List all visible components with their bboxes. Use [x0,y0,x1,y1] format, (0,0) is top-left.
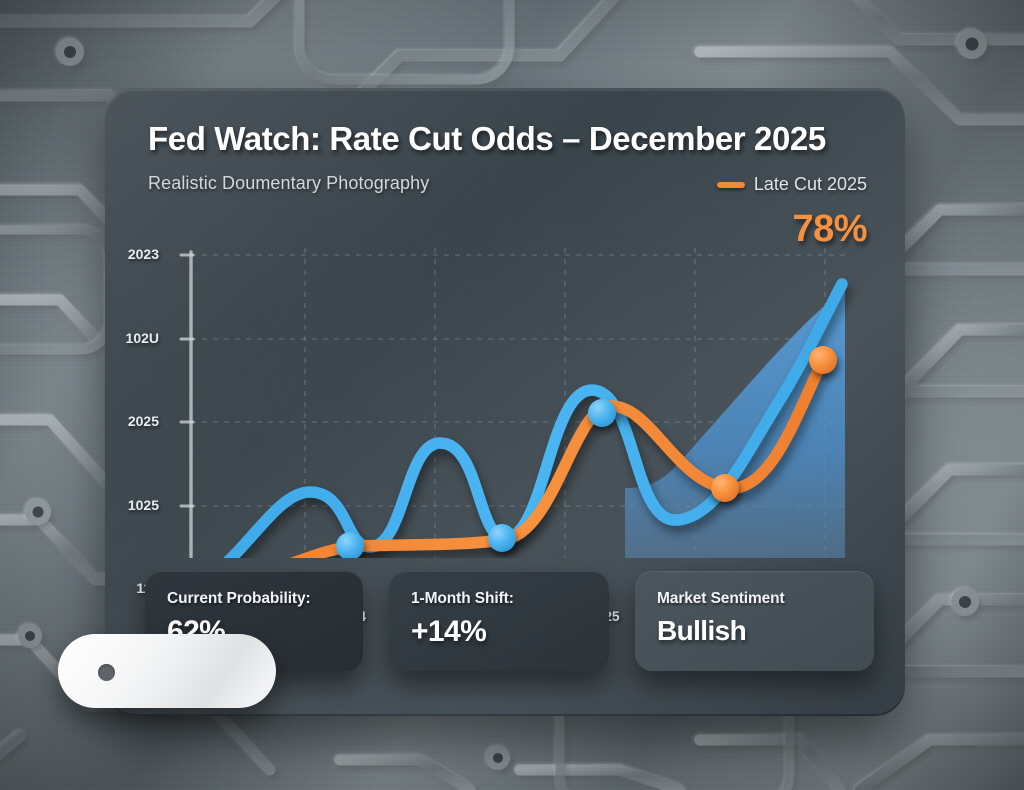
stat-card-label: 1-Month Shift: [411,590,587,608]
stat-card-market-sentiment[interactable]: Market Sentiment Bullish [635,571,874,671]
y-axis-tick-1: 102U [105,330,159,346]
screenshot-root: Fed Watch: Rate Cut Odds – December 2025… [0,0,1024,790]
stat-card-label: Current Probability: [167,590,341,608]
y-axis-tick-3: 1025 [105,497,159,513]
marker-blue-2[interactable] [488,524,516,552]
marker-orange-2[interactable] [711,474,739,502]
chart-panel: Fed Watch: Rate Cut Odds – December 2025… [105,88,905,716]
y-axis-tick-0: 2023 [105,246,159,262]
stat-card-value: +14% [411,615,587,649]
marker-orange-3[interactable] [809,346,837,374]
chart-svg [105,88,905,558]
marker-blue-3[interactable] [588,399,616,427]
stat-card-value: Bullish [657,615,852,647]
pill-dot-icon [98,664,115,681]
stat-card-one-month-shift[interactable]: 1-Month Shift: +14% [389,571,609,671]
plot-area: 2023 102U 2025 1025 115 Q3-Q4 Q3-Q44 Q3-… [105,88,905,558]
stat-card-label: Market Sentiment [657,590,852,608]
y-axis-tick-2: 2025 [105,413,159,429]
white-pill-decoration [58,634,276,708]
